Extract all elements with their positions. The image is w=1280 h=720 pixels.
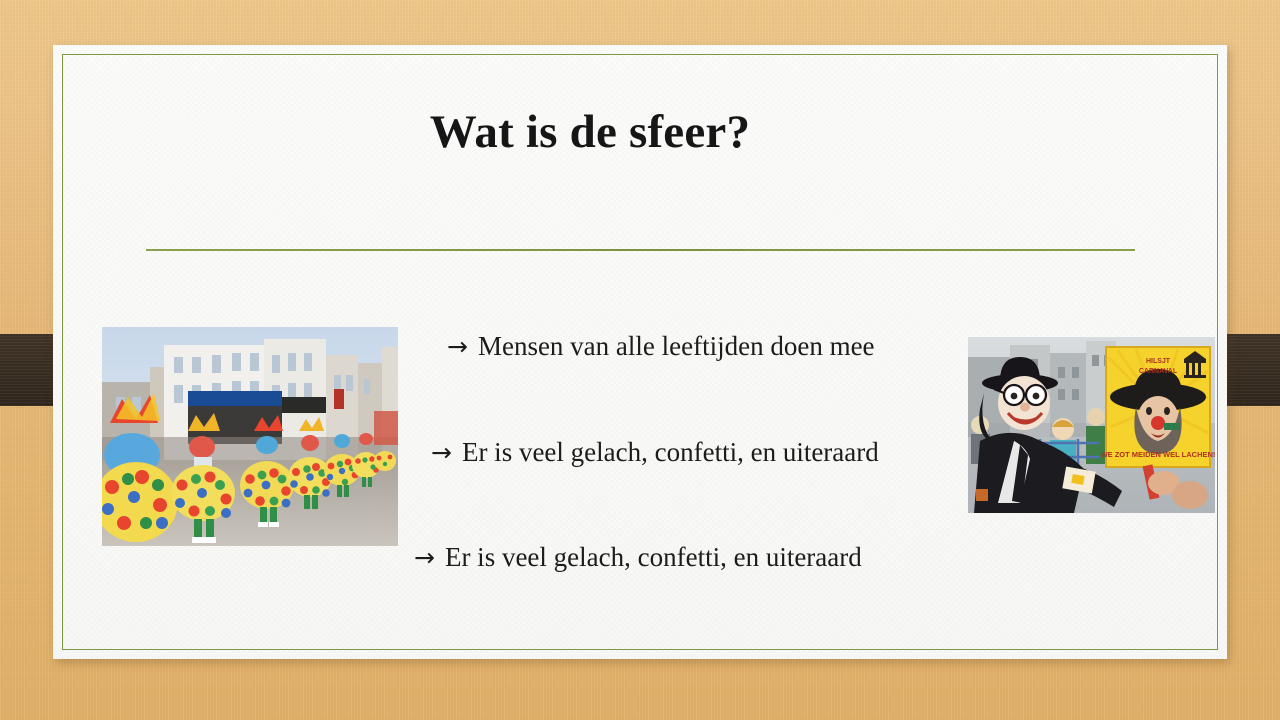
carnival-clown-photo: HILSJT CARNAVAL WE ZOT MEIDEN WEL LACHEN…	[968, 337, 1215, 513]
bullet-line-1: →Mensen van alle leeftijden doen mee	[447, 331, 875, 362]
title-divider-line	[146, 249, 1135, 251]
bullet-line-3: →Er is veel gelach, confetti, en uiteraa…	[414, 542, 862, 573]
carnival-parade-photo	[102, 327, 398, 546]
bullet-text-3: Er is veel gelach, confetti, en uiteraar…	[445, 542, 862, 572]
bullet-text-2: Er is veel gelach, confetti, en uiteraar…	[462, 437, 879, 467]
bullet-text-1: Mensen van alle leeftijden doen mee	[478, 331, 875, 361]
arrow-right-icon: →	[414, 543, 445, 572]
svg-text:WE ZOT MEIDEN WEL LACHEN!: WE ZOT MEIDEN WEL LACHEN!	[1101, 450, 1215, 459]
bullet-line-2: →Er is veel gelach, confetti, en uiteraa…	[431, 437, 879, 468]
slide-title: Wat is de sfeer?	[90, 105, 1090, 159]
svg-text:HILSJT: HILSJT	[1146, 358, 1171, 365]
svg-text:CARNAVAL: CARNAVAL	[1139, 368, 1178, 375]
arrow-right-icon: →	[431, 438, 462, 467]
presentation-slide: Wat is de sfeer? →Mensen van alle leefti…	[0, 0, 1280, 720]
arrow-right-icon: →	[447, 332, 478, 361]
